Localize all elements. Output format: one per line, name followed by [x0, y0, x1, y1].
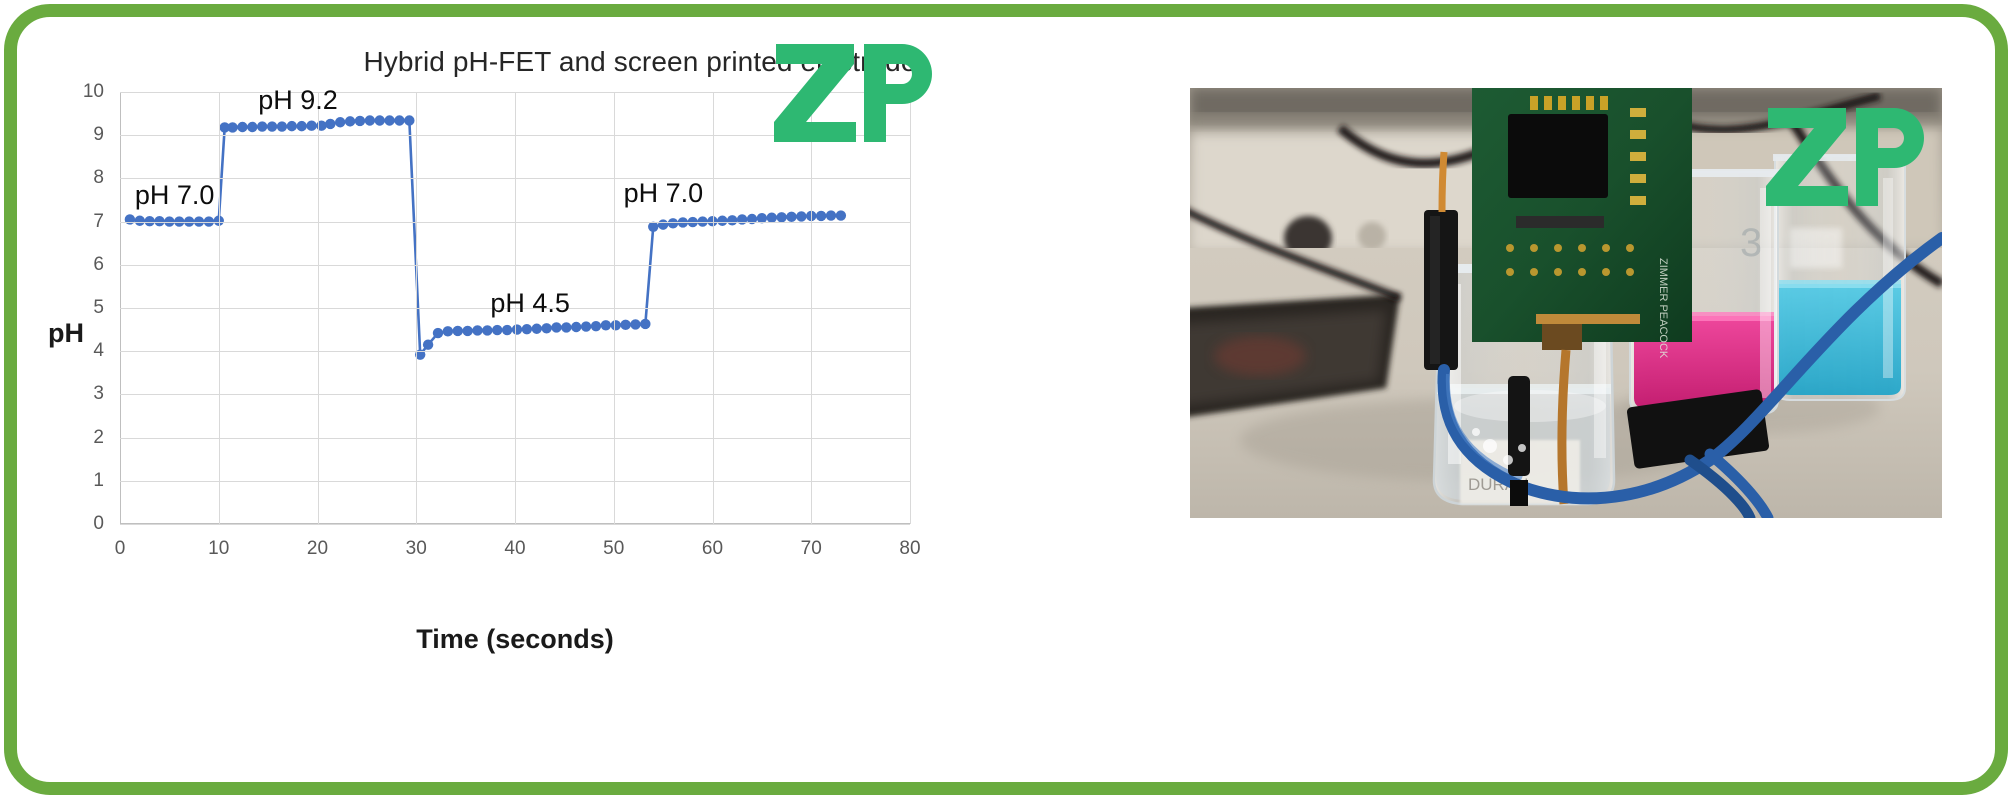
x-tick-label: 50: [584, 538, 644, 560]
svg-text:3: 3: [1740, 221, 1762, 265]
data-point-marker: [561, 322, 571, 332]
y-tick-label: 0: [64, 513, 104, 535]
data-point-marker: [786, 212, 796, 222]
data-point-marker: [365, 115, 375, 125]
data-point-marker: [257, 121, 267, 131]
zp-logo-icon: [1764, 102, 1924, 212]
chart-title: Hybrid pH-FET and screen printed electro…: [120, 46, 1160, 78]
data-point-marker: [747, 214, 757, 224]
data-point-marker: [512, 324, 522, 334]
ph-chart: Hybrid pH-FET and screen printed electro…: [20, 28, 1200, 788]
data-point-marker: [620, 320, 630, 330]
x-tick-label: 80: [880, 538, 940, 560]
gridline-vertical: [416, 92, 417, 524]
y-tick-label: 2: [64, 427, 104, 449]
ph-annotation-label: pH 4.5: [490, 288, 570, 319]
data-point-marker: [355, 116, 365, 126]
x-tick-label: 10: [189, 538, 249, 560]
x-tick-label: 60: [683, 538, 743, 560]
gridline-vertical: [318, 92, 319, 524]
gridline-horizontal: [120, 524, 910, 525]
data-point-marker: [297, 121, 307, 131]
y-tick-label: 9: [64, 124, 104, 146]
gridline-vertical: [713, 92, 714, 524]
data-point-marker: [796, 211, 806, 221]
data-point-marker: [277, 121, 287, 131]
x-tick-label: 0: [90, 538, 150, 560]
data-point-marker: [423, 340, 433, 350]
data-point-marker: [581, 321, 591, 331]
data-point-marker: [571, 322, 581, 332]
data-point-marker: [482, 325, 492, 335]
data-point-marker: [394, 115, 404, 125]
zp-logo-icon: [772, 38, 932, 148]
y-tick-label: 6: [64, 254, 104, 276]
data-point-marker: [522, 324, 532, 334]
data-point-marker: [404, 115, 414, 125]
y-tick-label: 10: [64, 81, 104, 103]
gridline-vertical: [614, 92, 615, 524]
gridline-vertical: [811, 92, 812, 524]
data-point-marker: [591, 321, 601, 331]
x-tick-label: 70: [781, 538, 841, 560]
data-point-marker: [737, 214, 747, 224]
y-tick-label: 4: [64, 340, 104, 362]
x-tick-label: 30: [386, 538, 446, 560]
data-point-marker: [287, 121, 297, 131]
data-point-marker: [836, 210, 846, 220]
data-point-marker: [640, 319, 650, 329]
data-point-marker: [668, 218, 678, 228]
y-tick-label: 3: [64, 383, 104, 405]
data-point-marker: [611, 320, 621, 330]
data-point-marker: [125, 214, 135, 224]
data-point-marker: [816, 211, 826, 221]
data-point-marker: [267, 121, 277, 131]
data-point-marker: [375, 115, 385, 125]
lab-setup-photo: 3 DURAN: [1190, 88, 1942, 518]
ph-annotation-label: pH 9.2: [258, 85, 338, 116]
data-point-marker: [335, 117, 345, 127]
x-tick-label: 20: [288, 538, 348, 560]
ph-annotation-label: pH 7.0: [624, 178, 704, 209]
data-point-marker: [492, 325, 502, 335]
y-tick-label: 8: [64, 167, 104, 189]
x-axis-title: Time (seconds): [120, 624, 910, 655]
data-point-marker: [727, 215, 737, 225]
ph-annotation-label: pH 7.0: [135, 180, 215, 211]
data-point-marker: [630, 319, 640, 329]
series-line: [130, 121, 841, 355]
slide-canvas: Hybrid pH-FET and screen printed electro…: [0, 0, 2012, 799]
data-point-marker: [384, 115, 394, 125]
data-point-marker: [227, 122, 237, 132]
data-point-marker: [237, 122, 247, 132]
data-point-marker: [826, 210, 836, 220]
x-tick-label: 40: [485, 538, 545, 560]
data-point-marker: [502, 325, 512, 335]
data-point-marker: [453, 326, 463, 336]
data-point-marker: [247, 122, 257, 132]
gridline-vertical: [219, 92, 220, 524]
svg-text:ZIMMER PEACOCK: ZIMMER PEACOCK: [1657, 258, 1669, 359]
data-point-marker: [306, 121, 316, 131]
data-point-marker: [541, 323, 551, 333]
y-tick-label: 5: [64, 297, 104, 319]
data-point-marker: [433, 328, 443, 338]
data-point-marker: [345, 116, 355, 126]
data-point-marker: [472, 325, 482, 335]
data-point-marker: [551, 322, 561, 332]
y-tick-label: 7: [64, 211, 104, 233]
data-point-marker: [462, 326, 472, 336]
gridline-vertical: [910, 92, 911, 524]
data-point-marker: [532, 324, 542, 334]
data-point-marker: [601, 320, 611, 330]
y-tick-label: 1: [64, 470, 104, 492]
data-point-marker: [325, 119, 335, 129]
data-point-marker: [648, 222, 658, 232]
data-point-marker: [443, 326, 453, 336]
